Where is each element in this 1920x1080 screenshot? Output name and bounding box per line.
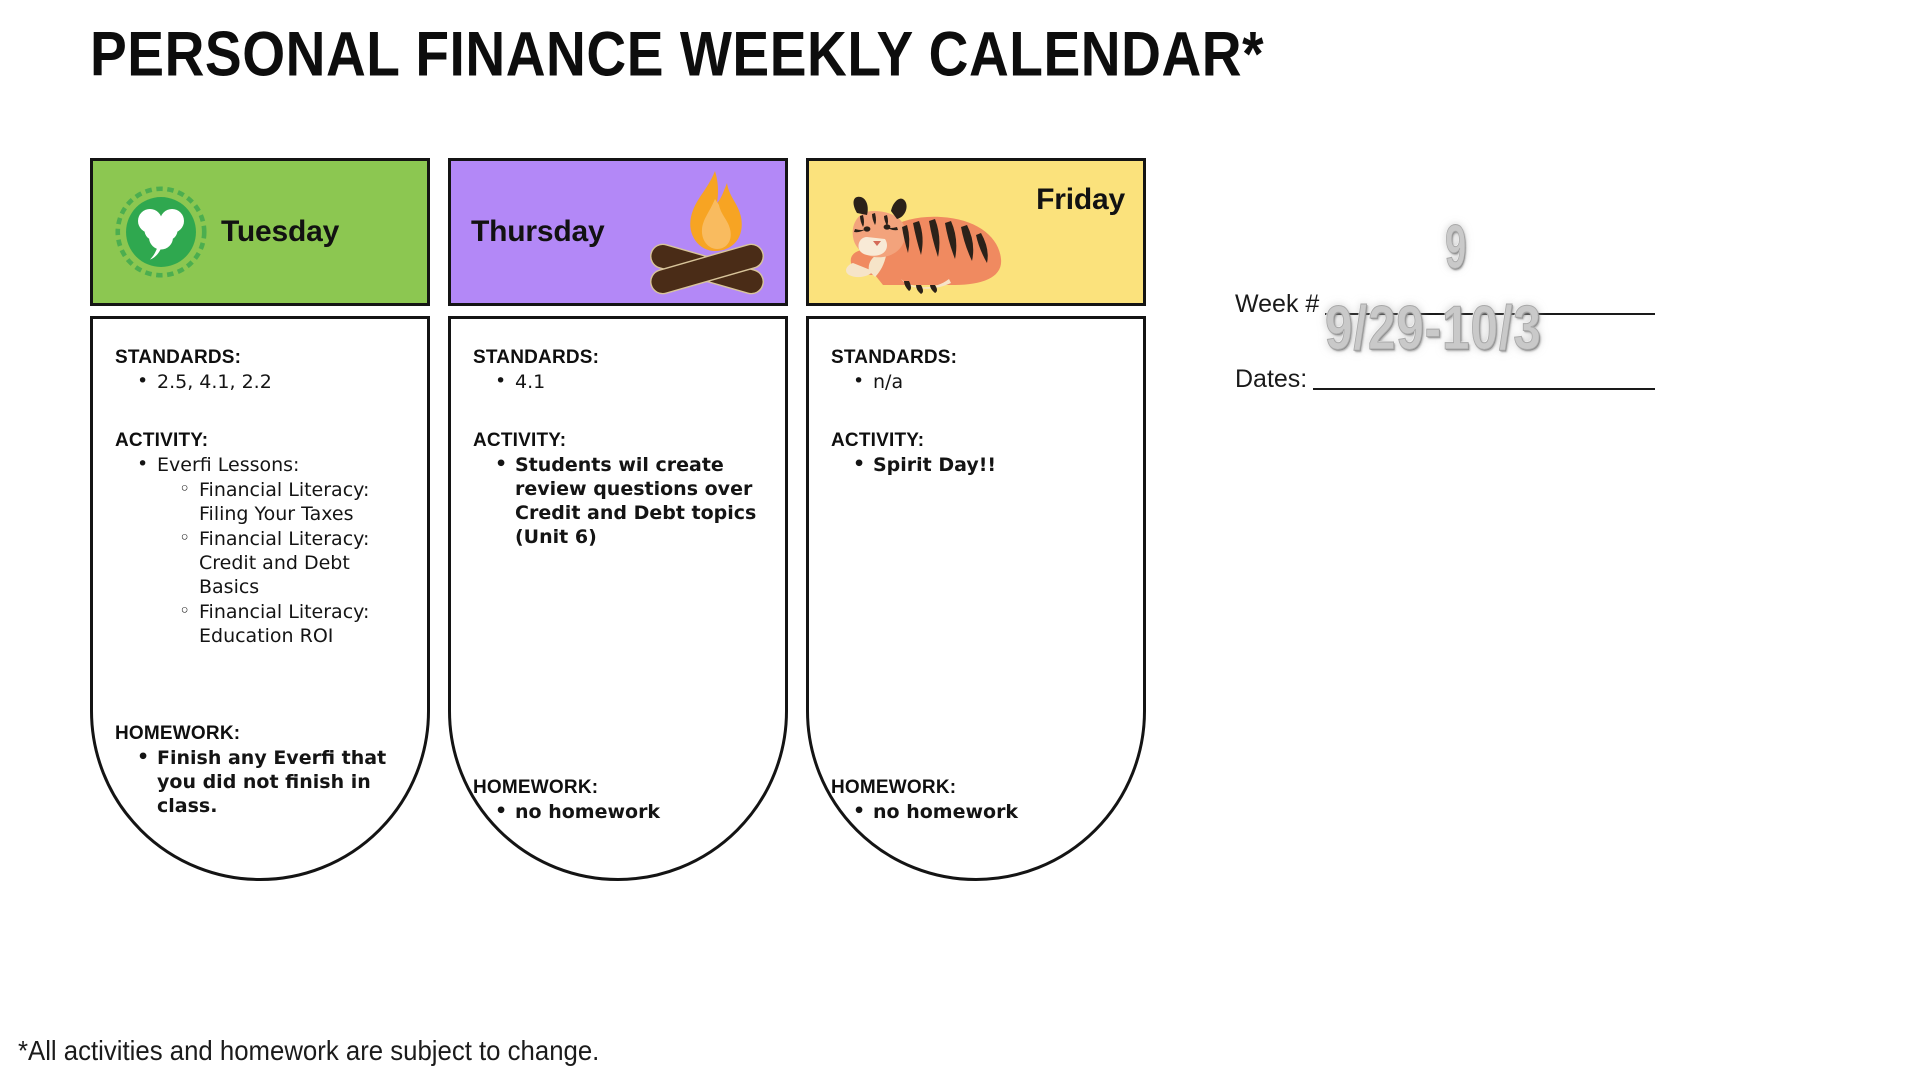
standards-list: 4.1 (473, 371, 763, 396)
list-item: Financial Literacy: Credit and Debt Basi… (179, 528, 405, 600)
shamrock-icon (115, 186, 207, 278)
standards-label: STANDARDS: (473, 347, 763, 369)
footnote: *All activities and homework are subject… (18, 1035, 599, 1067)
spacer (115, 649, 405, 723)
list-item: Financial Literacy: Education ROI (179, 601, 405, 649)
day-header-thursday: Thursday (448, 158, 788, 306)
activity-sublist: Financial Literacy: Filing Your Taxes Fi… (157, 479, 405, 649)
activity-list: Spirit Day!! (831, 454, 1121, 479)
standards-label: STANDARDS: (115, 347, 405, 369)
spacer (831, 479, 1121, 777)
day-header-friday: Friday (806, 158, 1146, 306)
standards-list: 2.5, 4.1, 2.2 (115, 371, 405, 396)
list-item: Finish any Everfi that you did not finis… (137, 747, 405, 819)
day-card-thursday: Thursday STANDARDS: 4.1 (448, 158, 788, 881)
homework-list: Finish any Everfi that you did not finis… (115, 747, 405, 819)
activity-label: ACTIVITY: (831, 430, 1121, 452)
day-body-thursday: STANDARDS: 4.1 ACTIVITY: Students wil cr… (448, 316, 788, 881)
page-title: PERSONAL FINANCE WEEKLY CALENDAR* (90, 18, 1264, 91)
week-meta-panel: Week # 9 Dates: 9/29-10/3 (1235, 290, 1655, 440)
calendar-page: PERSONAL FINANCE WEEKLY CALENDAR* (0, 0, 1920, 1080)
list-item: Everfi Lessons: Financial Literacy: Fili… (137, 454, 405, 649)
homework-label: HOMEWORK: (115, 723, 405, 745)
activity-label: ACTIVITY: (473, 430, 763, 452)
activity-list: Everfi Lessons: Financial Literacy: Fili… (115, 454, 405, 650)
list-item: Students wil create review questions ove… (495, 454, 763, 550)
spacer (473, 551, 763, 777)
activity-label: ACTIVITY: (115, 430, 405, 452)
standards-label: STANDARDS: (831, 347, 1121, 369)
activity-text: Everfi Lessons: (157, 454, 299, 476)
list-item: 4.1 (495, 371, 763, 395)
homework-label: HOMEWORK: (473, 777, 763, 799)
day-name-friday: Friday (1036, 183, 1125, 217)
day-card-friday: Friday STANDARDS: n/a ACTIVITY: Spirit D… (806, 158, 1146, 881)
list-item: Financial Literacy: Filing Your Taxes (179, 479, 405, 527)
day-name-tuesday: Tuesday (221, 215, 339, 249)
activity-list: Students wil create review questions ove… (473, 454, 763, 551)
day-name-thursday: Thursday (471, 215, 604, 249)
homework-block-friday: HOMEWORK: no homework (831, 777, 1121, 826)
day-body-friday: STANDARDS: n/a ACTIVITY: Spirit Day!! HO… (806, 316, 1146, 881)
day-body-tuesday: STANDARDS: 2.5, 4.1, 2.2 ACTIVITY: Everf… (90, 316, 430, 881)
dates-label: Dates: (1235, 365, 1313, 394)
week-number-label: Week # (1235, 290, 1325, 319)
homework-list: no homework (831, 801, 1121, 825)
homework-list: no homework (473, 801, 763, 825)
list-item: no homework (495, 801, 763, 825)
week-number-value: 9 (1445, 212, 1467, 283)
dates-line (1313, 388, 1655, 390)
homework-block-tuesday: HOMEWORK: Finish any Everfi that you did… (115, 723, 405, 820)
day-card-tuesday: Tuesday STANDARDS: 2.5, 4.1, 2.2 ACTIVIT… (90, 158, 430, 881)
tiger-icon (823, 167, 1033, 303)
list-item: 2.5, 4.1, 2.2 (137, 371, 405, 395)
list-item: n/a (853, 371, 1121, 395)
standards-list: n/a (831, 371, 1121, 396)
list-item: Spirit Day!! (853, 454, 1121, 478)
homework-block-thursday: HOMEWORK: no homework (473, 777, 763, 826)
week-number-row: Week # 9 (1235, 290, 1655, 319)
day-cards-container: Tuesday STANDARDS: 2.5, 4.1, 2.2 ACTIVIT… (90, 158, 1150, 881)
day-header-tuesday: Tuesday (90, 158, 430, 306)
dates-row: Dates: 9/29-10/3 (1235, 365, 1655, 394)
list-item: no homework (853, 801, 1121, 825)
week-number-line (1325, 313, 1655, 315)
homework-label: HOMEWORK: (831, 777, 1121, 799)
campfire-icon (629, 165, 779, 306)
